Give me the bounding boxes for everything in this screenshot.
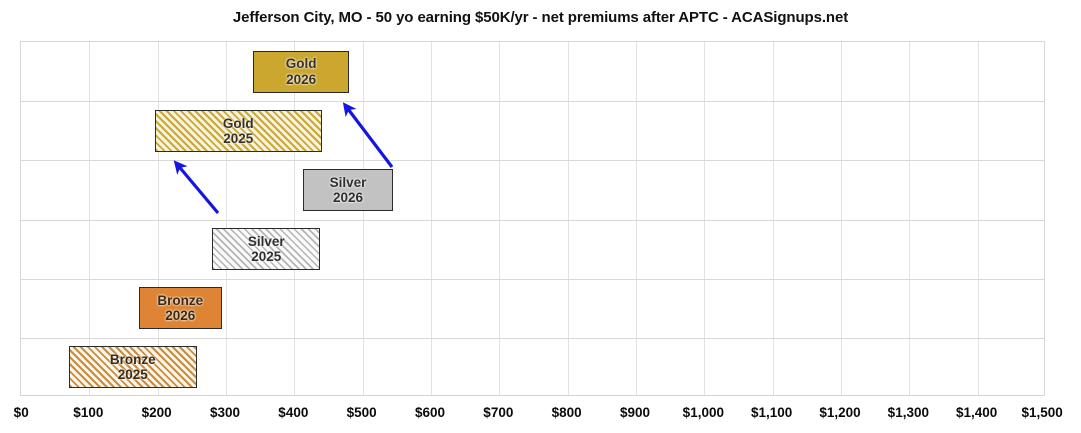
bar-label-year: 2026 xyxy=(165,308,195,323)
horizontal-gridline xyxy=(21,101,1044,102)
bar-gold-2025: Gold2025 xyxy=(155,110,322,152)
vertical-gridline xyxy=(431,42,432,395)
horizontal-gridline xyxy=(21,160,1044,161)
bar-label-metal: Gold xyxy=(223,116,254,131)
bar-label-metal: Silver xyxy=(248,234,285,249)
vertical-gridline xyxy=(499,42,500,395)
vertical-gridline xyxy=(909,42,910,395)
bar-bronze-2025: Bronze2025 xyxy=(69,346,197,388)
vertical-gridline xyxy=(89,42,90,395)
bar-label-year: 2025 xyxy=(118,367,148,382)
bar-silver-2026: Silver2026 xyxy=(303,169,394,211)
x-tick-label: $1,200 xyxy=(819,405,860,420)
x-tick-label: $1,500 xyxy=(1021,405,1062,420)
bar-label-metal: Bronze xyxy=(110,352,156,367)
x-tick-label: $700 xyxy=(483,405,513,420)
bar-label-year: 2026 xyxy=(333,190,363,205)
vertical-gridline xyxy=(841,42,842,395)
x-tick-label: $500 xyxy=(347,405,377,420)
plot-area: Gold2026Gold2025Silver2026Silver2025Bron… xyxy=(20,41,1045,396)
x-tick-label: $1,100 xyxy=(751,405,792,420)
bar-gold-2026: Gold2026 xyxy=(253,51,349,93)
x-tick-label: $900 xyxy=(620,405,650,420)
chart-title: Jefferson City, MO - 50 yo earning $50K/… xyxy=(0,9,1081,26)
x-tick-label: $1,300 xyxy=(888,405,929,420)
horizontal-gridline xyxy=(21,279,1044,280)
x-tick-label: $400 xyxy=(278,405,308,420)
x-tick-label: $1,400 xyxy=(956,405,997,420)
bar-label-metal: Gold xyxy=(286,56,317,71)
bar-silver-2025: Silver2025 xyxy=(212,228,320,270)
bar-label-year: 2025 xyxy=(251,249,281,264)
x-tick-label: $800 xyxy=(552,405,582,420)
vertical-gridline xyxy=(704,42,705,395)
vertical-gridline xyxy=(226,42,227,395)
horizontal-gridline xyxy=(21,220,1044,221)
x-tick-label: $0 xyxy=(14,405,29,420)
horizontal-gridline xyxy=(21,338,1044,339)
vertical-gridline xyxy=(294,42,295,395)
x-tick-label: $300 xyxy=(210,405,240,420)
vertical-gridline xyxy=(568,42,569,395)
bar-label-metal: Bronze xyxy=(157,293,203,308)
chart-container: Jefferson City, MO - 50 yo earning $50K/… xyxy=(0,0,1081,433)
x-tick-label: $1,000 xyxy=(683,405,724,420)
vertical-gridline xyxy=(158,42,159,395)
bar-label-year: 2025 xyxy=(223,131,253,146)
x-tick-label: $200 xyxy=(142,405,172,420)
x-tick-label: $100 xyxy=(73,405,103,420)
x-tick-label: $600 xyxy=(415,405,445,420)
vertical-gridline xyxy=(636,42,637,395)
bar-label-year: 2026 xyxy=(286,72,316,87)
bar-bronze-2026: Bronze2026 xyxy=(139,287,222,329)
vertical-gridline xyxy=(773,42,774,395)
vertical-gridline xyxy=(978,42,979,395)
bar-label-metal: Silver xyxy=(330,175,367,190)
vertical-gridline xyxy=(363,42,364,395)
